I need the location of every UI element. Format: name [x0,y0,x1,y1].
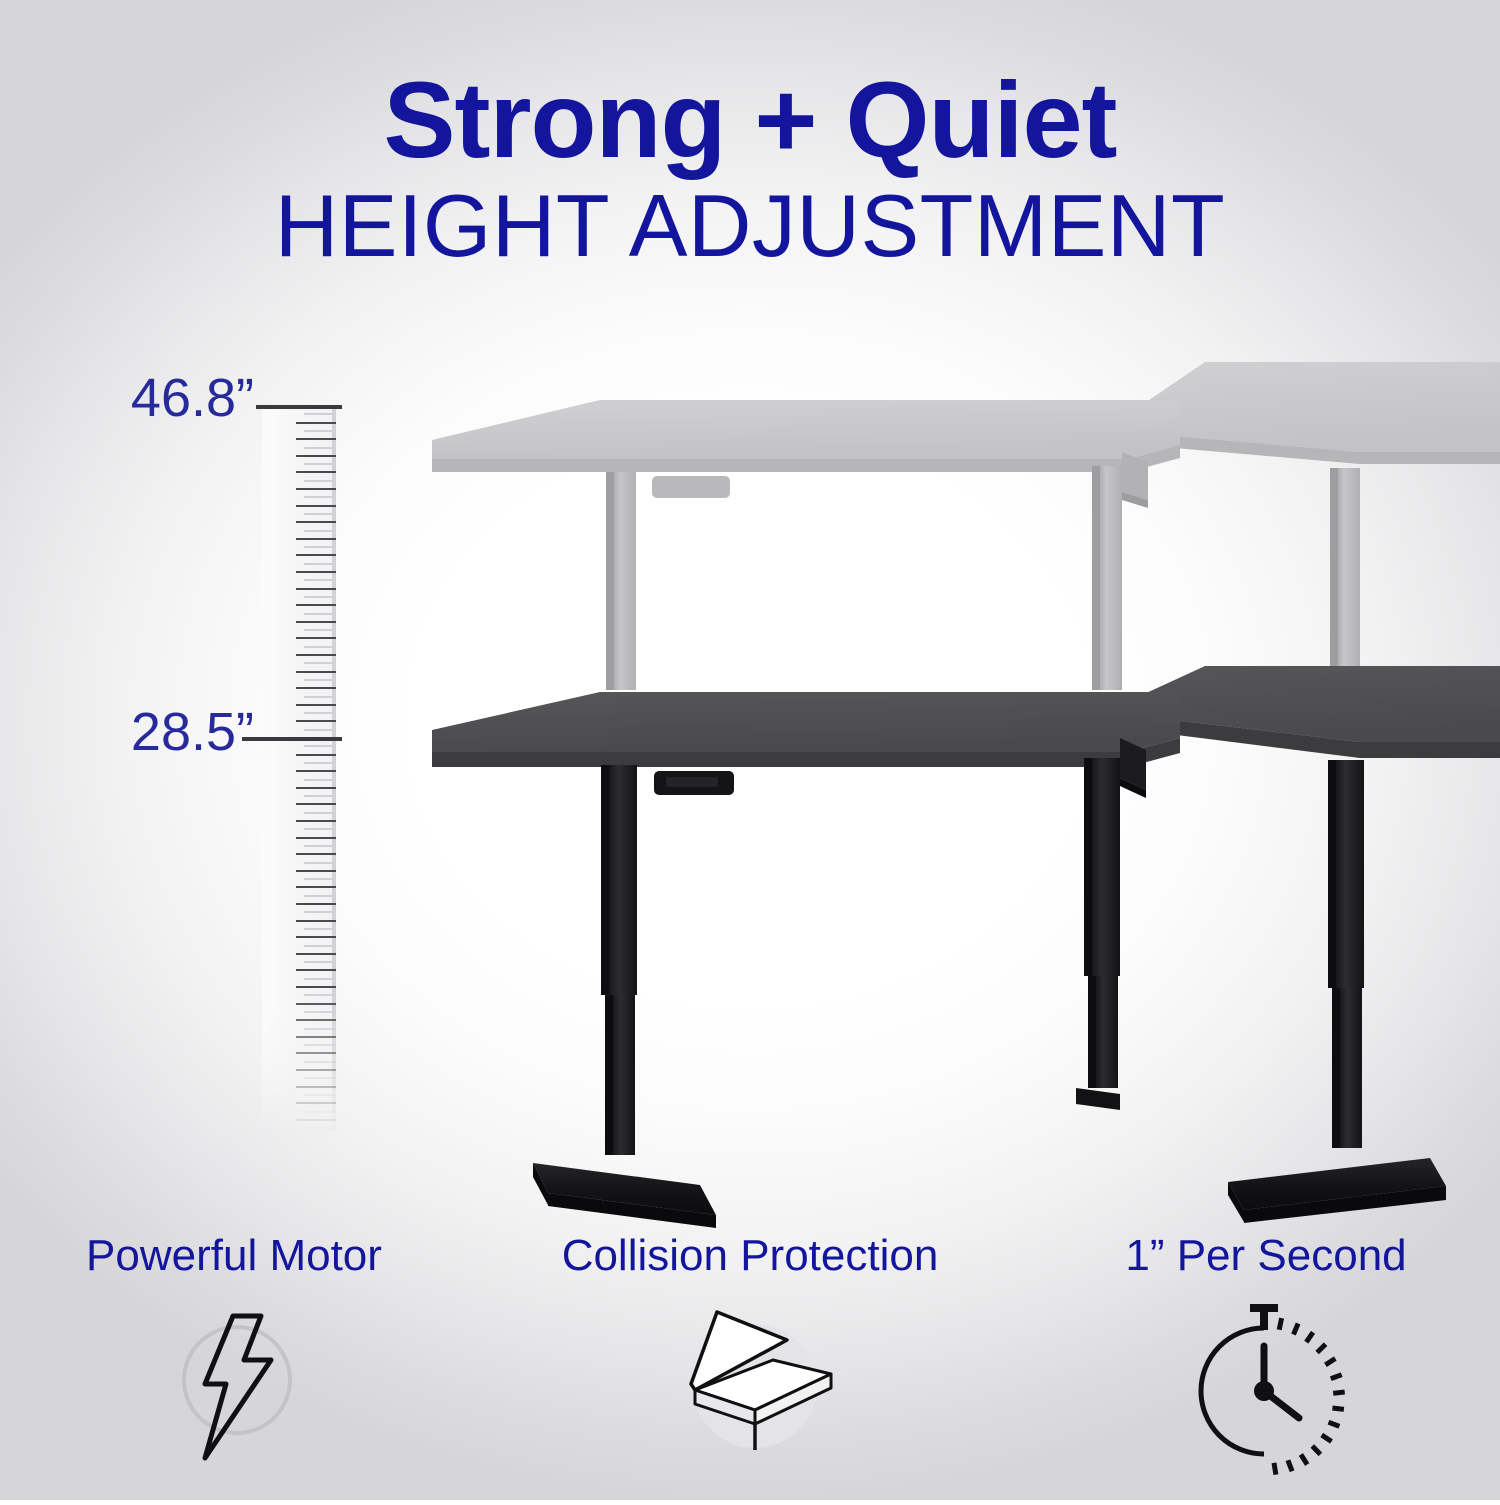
lowered-desk-right-leg [1228,760,1446,1223]
ruler-tick [296,770,336,772]
ruler-tick [296,654,336,656]
feature-label: Powerful Motor [0,1232,468,1280]
ruler-tick [296,604,336,606]
lowered-desk-group [432,666,1500,1228]
ruler-tick [296,837,336,839]
max-height-marker [256,405,342,409]
max-height-label: 46.8” [32,367,254,429]
ruler-tick [304,629,336,631]
ruler-tick [296,1119,336,1121]
ruler-tick [304,961,336,963]
ruler-tick [304,945,336,947]
ruler-tick [296,1036,336,1038]
ruler-tick [296,1086,336,1088]
raised-desk-main-top [432,400,1180,472]
ruler-tick [296,969,336,971]
ruler-tick [304,712,336,714]
ruler-tick [304,662,336,664]
ruler-tick [304,994,336,996]
feature-label: Collision Protection [468,1232,1032,1280]
min-height-marker [242,737,342,741]
raised-control-panel [652,476,730,498]
ruler-tick [304,779,336,781]
ruler-tick [304,911,336,913]
ruler-tick [296,1069,336,1071]
ruler-tick [304,646,336,648]
ruler-tick [296,986,336,988]
infographic-canvas: Strong + Quiet HEIGHT ADJUSTMENT [0,0,1500,1500]
feature-powerful-motor: Powerful Motor [0,1232,468,1476]
ruler-tick [296,953,336,955]
ruler-tick [304,563,336,565]
ruler-tick [304,795,336,797]
ruler-tick [304,696,336,698]
lightning-bolt-icon [0,1298,468,1476]
ruler-tick [304,762,336,764]
ruler-tick [296,505,336,507]
raised-desk-group [432,362,1500,690]
ruler-tick [304,1028,336,1030]
ruler-tick [304,1044,336,1046]
ruler-tick [296,1102,336,1104]
ruler-tick [304,1011,336,1013]
ruler-tick [304,928,336,930]
feature-speed: 1” Per Second [1032,1232,1500,1484]
ruler-tick [304,463,336,465]
ruler-tick [296,1052,336,1054]
ruler-tick [296,853,336,855]
ruler-tick [296,637,336,639]
ruler-tick [296,438,336,440]
feature-row: Powerful Motor Collision Protection [0,1232,1500,1500]
ruler-tick [296,588,336,590]
ruler-tick [304,1077,336,1079]
ruler-tick [296,920,336,922]
ruler-tick [304,447,336,449]
ruler-tick [296,1003,336,1005]
ruler-tick [296,422,336,424]
ruler-tick [304,413,336,415]
ruler-tick [296,803,336,805]
ruler-tick [296,455,336,457]
ruler-tick [304,1127,336,1129]
ruler-tick [304,1111,336,1113]
ruler-tick [296,571,336,573]
ruler-tick [296,687,336,689]
ruler-tick [304,745,336,747]
ruler-tick [304,878,336,880]
ruler-tick [304,496,336,498]
ruler-tick [304,845,336,847]
feature-collision-protection: Collision Protection [468,1232,1032,1476]
ruler-tick [296,538,336,540]
ruler-tick [304,978,336,980]
feature-label: 1” Per Second [1032,1232,1500,1280]
ruler-tick [304,430,336,432]
ruler-tick [296,471,336,473]
ruler-tick [304,596,336,598]
ruler-tick [296,754,336,756]
ruler-tick [304,513,336,515]
ruler-tick [296,820,336,822]
ruler-tick [304,895,336,897]
ruler-tick [296,521,336,523]
ruler-tick [296,488,336,490]
ruler-tick [296,787,336,789]
min-height-label: 28.5” [18,701,254,763]
ruler-tick [296,886,336,888]
ruler-tick [304,862,336,864]
lowered-desk-left-leg [533,765,716,1228]
ruler-tick [296,903,336,905]
ruler-tick [304,679,336,681]
ruler-tick [304,579,336,581]
ruler-tick [304,530,336,532]
ruler-tick [296,870,336,872]
ruler-tick [296,554,336,556]
ruler-tick [296,1019,336,1021]
height-ruler: 46.8” 28.5” [262,405,348,1135]
lowered-control-panel [654,771,734,795]
ruler-tick [304,1061,336,1063]
ruler-tick [296,936,336,938]
ruler-tick [304,812,336,814]
lowered-desk-corner-leg [1076,738,1146,1110]
ruler-tick [304,613,336,615]
ruler-tick [296,704,336,706]
lowered-desk-main-top [432,692,1180,767]
ruler-tick [304,729,336,731]
ruler-tick [296,621,336,623]
ruler-tick [304,1094,336,1096]
stopwatch-icon [1032,1298,1500,1484]
ruler-tick [304,828,336,830]
colliding-surfaces-icon [468,1298,1032,1476]
ruler-ticks [262,405,336,1135]
ruler-tick [304,480,336,482]
ruler-tick [296,720,336,722]
ruler-tick [304,546,336,548]
ruler-tick [296,671,336,673]
